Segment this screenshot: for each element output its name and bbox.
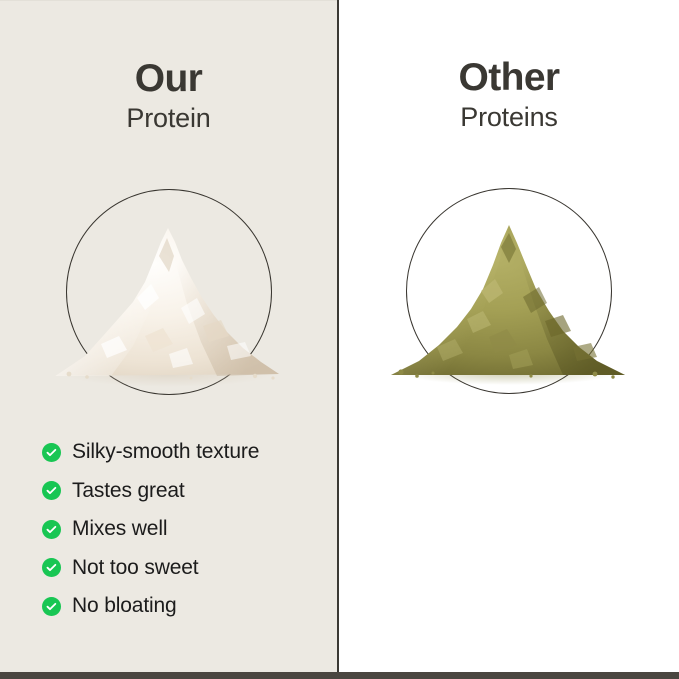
heading-main-our: Our bbox=[0, 59, 337, 98]
heading-sub-proteins: Proteins bbox=[339, 104, 679, 131]
check-circle-icon bbox=[42, 443, 61, 462]
feature-item: Mixes well bbox=[42, 510, 337, 549]
heading-sub-protein: Protein bbox=[0, 105, 337, 132]
heading-main-other: Other bbox=[339, 58, 679, 97]
our-protein-feature-list: Silky-smooth texture Tastes great Mixes … bbox=[42, 433, 337, 626]
comparison-infographic: Our Protein bbox=[0, 0, 679, 679]
bottom-band bbox=[0, 672, 679, 679]
our-protein-image-circle bbox=[66, 189, 272, 395]
feature-label: Mixes well bbox=[72, 517, 167, 541]
column-our-protein: Our Protein bbox=[0, 0, 337, 673]
feature-label: Tastes great bbox=[72, 479, 185, 503]
check-circle-icon bbox=[42, 558, 61, 577]
feature-label: Silky-smooth texture bbox=[72, 440, 259, 464]
feature-item: No bloating bbox=[42, 587, 337, 626]
feature-label: No bloating bbox=[72, 594, 177, 618]
check-circle-icon bbox=[42, 481, 61, 500]
other-proteins-image-circle bbox=[406, 188, 612, 394]
feature-label: Not too sweet bbox=[72, 556, 198, 580]
check-circle-icon bbox=[42, 597, 61, 616]
feature-item: Silky-smooth texture bbox=[42, 433, 337, 472]
column-other-proteins: Other Proteins bbox=[339, 0, 679, 672]
green-powder-mound-icon bbox=[381, 185, 637, 397]
other-proteins-heading: Other Proteins bbox=[339, 58, 679, 131]
feature-item: Not too sweet bbox=[42, 549, 337, 588]
white-powder-mound-icon bbox=[41, 186, 297, 398]
feature-item: Tastes great bbox=[42, 472, 337, 511]
our-protein-heading: Our Protein bbox=[0, 59, 337, 132]
column-divider bbox=[337, 0, 339, 672]
check-circle-icon bbox=[42, 520, 61, 539]
